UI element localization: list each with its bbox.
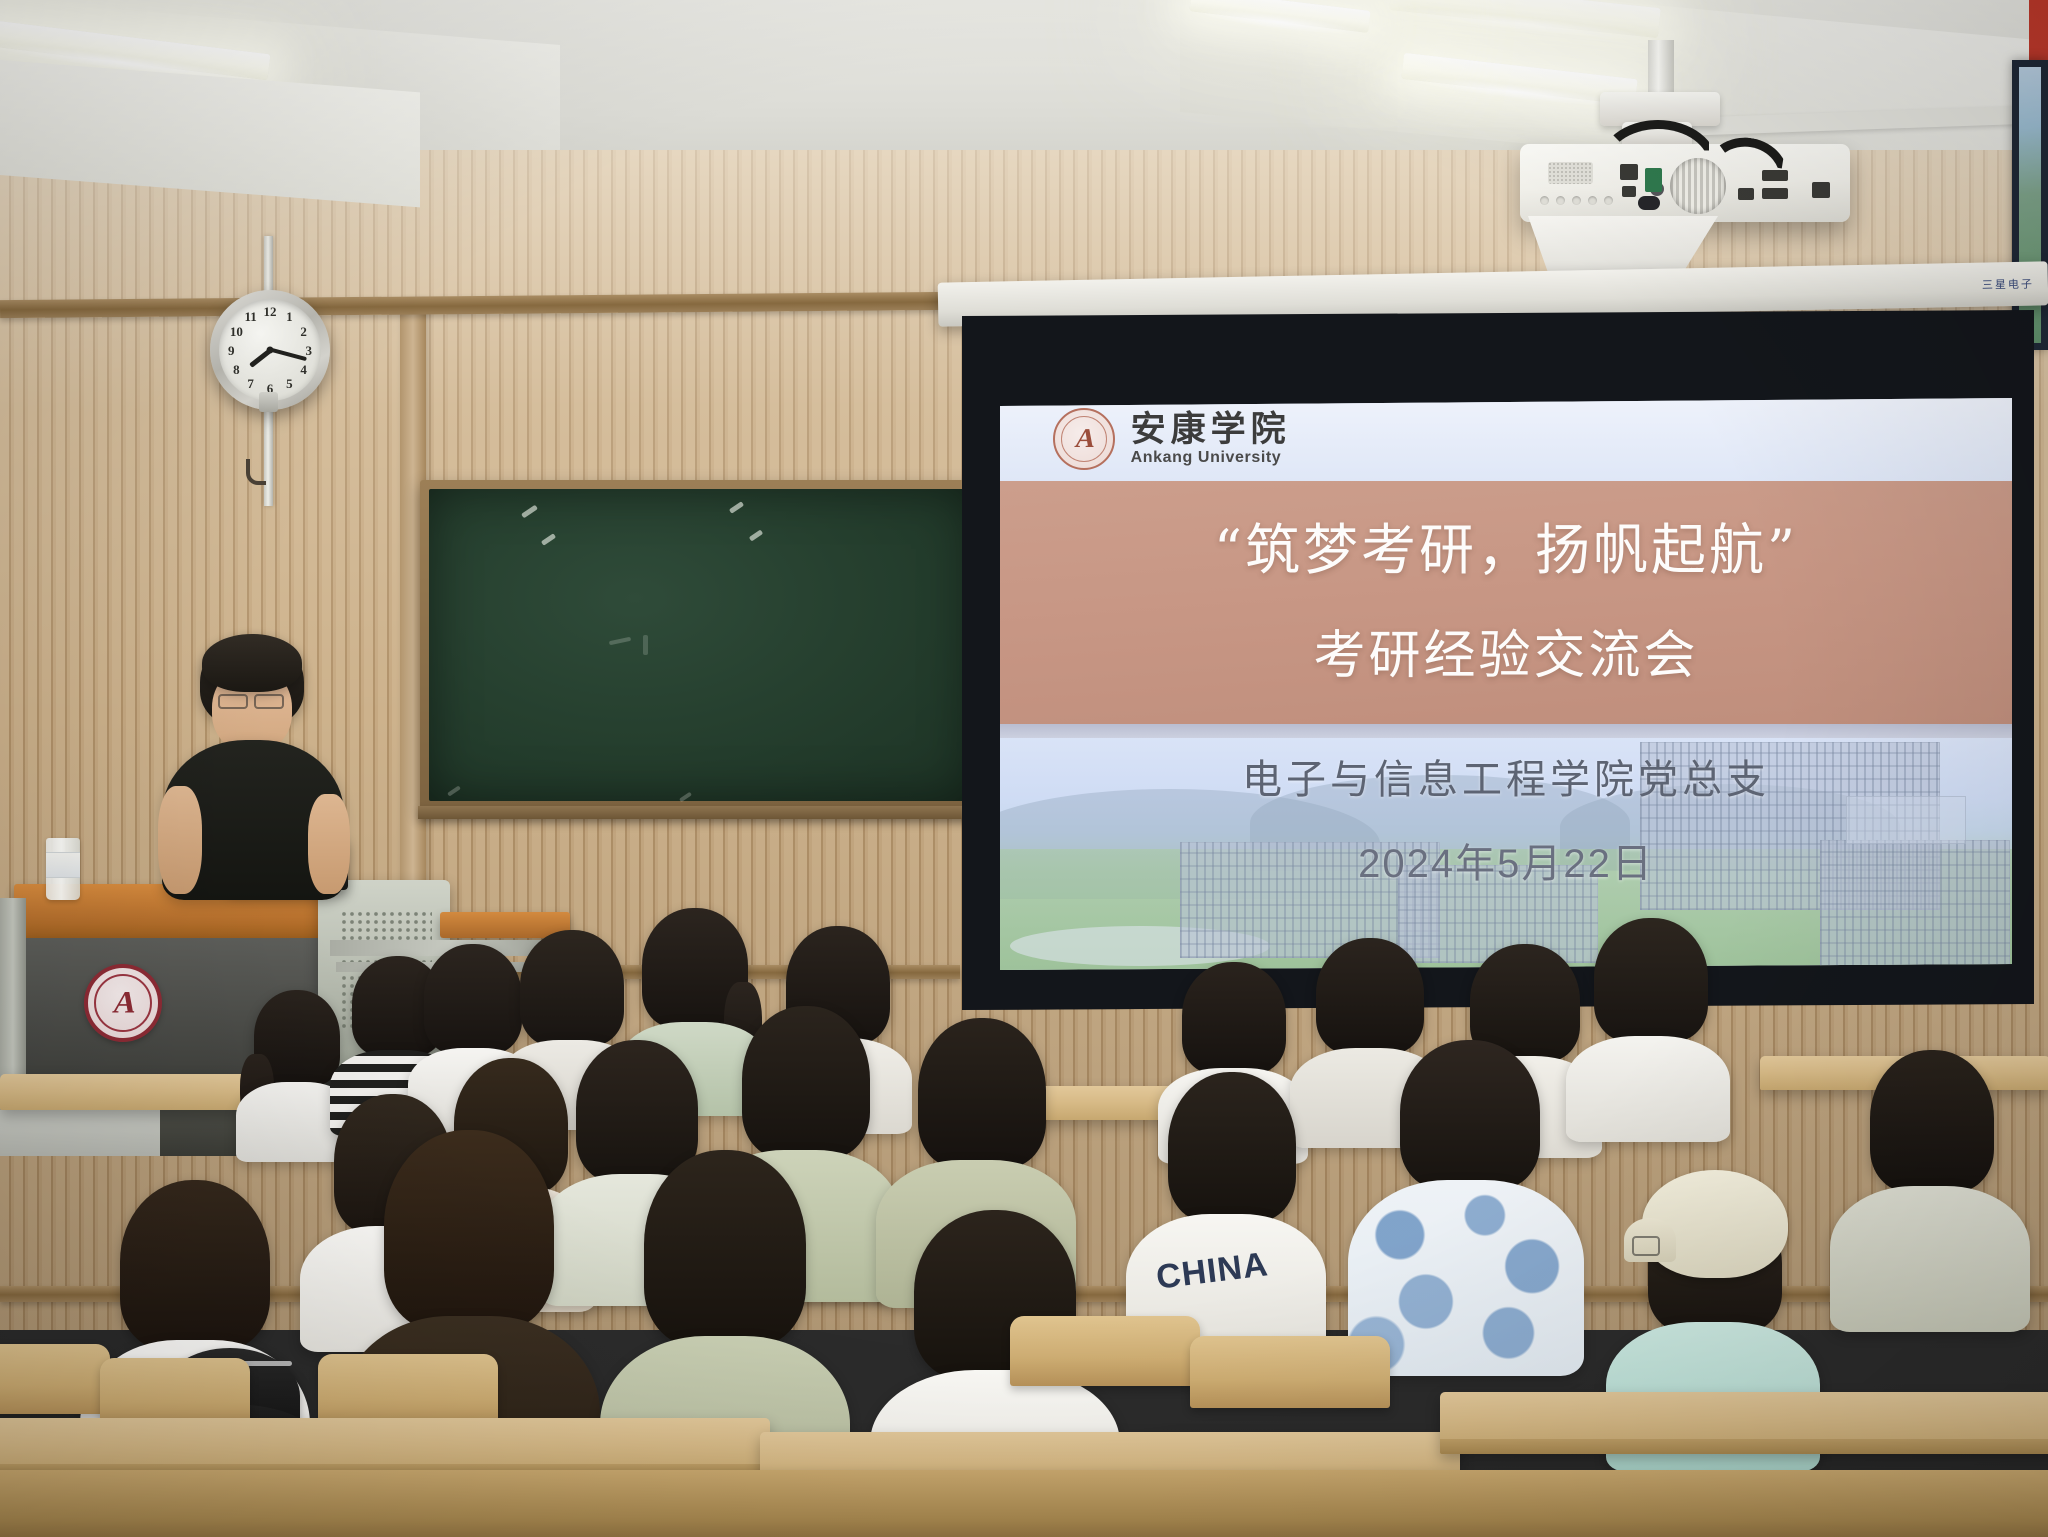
- projector-speaker-grille: [1548, 162, 1593, 184]
- chalk-ledge: [418, 806, 984, 819]
- chalk-mark: [643, 635, 648, 655]
- seat-back: [0, 1344, 110, 1414]
- projected-slide: A 安康学院 Ankang University “筑梦考研，扬帆起航” 考研经…: [1000, 398, 2012, 970]
- clock-numeral: 4: [300, 362, 307, 378]
- clock-face: 12 1 2 3 4 5 6 7 8 9 10 11: [219, 299, 321, 401]
- water-bottle: [46, 838, 80, 900]
- clock-numeral: 1: [286, 309, 293, 325]
- slide-divider: [1000, 724, 2012, 738]
- clock-minute-hand: [271, 348, 308, 361]
- audience-hair: [120, 1180, 270, 1350]
- slide-date: 2024年5月22日: [1358, 831, 1654, 889]
- window-red-panel: [2029, 0, 2048, 62]
- audience-hair: [742, 1006, 870, 1158]
- projector-hdmi-port: [1738, 188, 1754, 200]
- institution-name-cn: 安康学院: [1131, 412, 1291, 448]
- chalk-mark: [729, 501, 744, 514]
- clock-numeral: 8: [233, 362, 240, 378]
- clock-numeral: 10: [230, 324, 243, 340]
- clock-hook: [246, 459, 266, 485]
- projector-button[interactable]: [1572, 196, 1581, 205]
- audience-torso: [1830, 1186, 2030, 1332]
- audience-glasses-icon: [1632, 1236, 1660, 1256]
- audience-hair: [520, 930, 624, 1046]
- projector-button[interactable]: [1540, 196, 1549, 205]
- blackboard-surface: [429, 489, 971, 801]
- audience-hair: [1182, 962, 1286, 1074]
- clock-numeral: 5: [286, 376, 293, 392]
- chalk-mark: [541, 533, 556, 546]
- slide-footer-text: 电子与信息工程学院党总支 2024年5月22日: [1000, 747, 2012, 889]
- slide-title-line2: 考研经验交流会: [1313, 613, 1698, 688]
- audience-hair: [1870, 1050, 1994, 1192]
- floor-step: [0, 1110, 160, 1156]
- seat-back: [1190, 1336, 1390, 1408]
- projector-button[interactable]: [1604, 196, 1613, 205]
- projector-vga-port: [1762, 188, 1788, 199]
- window-frame: [2012, 60, 2048, 350]
- university-seal-icon: A: [1053, 408, 1115, 470]
- desk-front-panel: [0, 1470, 2048, 1537]
- projector-usb-port: [1622, 186, 1636, 197]
- clock-numeral: 12: [264, 304, 277, 320]
- audience-member: [1566, 918, 1730, 1142]
- audience-hair: [384, 1130, 554, 1330]
- podium-university-seal-icon: A: [84, 964, 162, 1042]
- projector-power-socket: [1812, 182, 1830, 198]
- screen-brand-label: 三星电子: [1982, 276, 2034, 293]
- presenter-arm-left: [158, 786, 202, 894]
- desk-front-row: [0, 1418, 770, 1478]
- clock-center-pin: [267, 347, 274, 354]
- seat-back: [1010, 1316, 1200, 1386]
- clock-numeral: 3: [306, 343, 313, 359]
- audience-member: [1830, 1050, 2030, 1330]
- audience-hair: [1400, 1040, 1540, 1190]
- presenter-hair-top: [202, 634, 302, 692]
- chalk-mark: [521, 505, 538, 519]
- chalk-mark: [609, 637, 631, 645]
- clock-numeral: 9: [228, 343, 235, 359]
- projector-green-terminal: [1645, 168, 1662, 192]
- seal-monogram: A: [1072, 423, 1095, 454]
- slide-organizer: 电子与信息工程学院党总支: [1242, 747, 1770, 805]
- clock-pole-clamp: [259, 392, 278, 412]
- audience-hair: [1594, 918, 1708, 1042]
- presenter-glasses-icon: [218, 694, 248, 709]
- slide-campus-photo: 电子与信息工程学院党总支 2024年5月22日: [1000, 738, 2012, 970]
- clock-numeral: 2: [300, 324, 307, 340]
- bottle-label: [46, 852, 80, 878]
- clock-numeral: 7: [247, 376, 254, 392]
- audience-torso: [1566, 1036, 1730, 1142]
- desk-row: [0, 1074, 250, 1110]
- presenter-arm-right: [308, 794, 350, 894]
- desk-edge: [1440, 1439, 2048, 1454]
- audience-hair: [644, 1150, 806, 1346]
- projector-lan-port: [1620, 164, 1638, 180]
- audience-hair: [918, 1018, 1046, 1168]
- podium-seal-monogram: A: [110, 984, 135, 1020]
- presenter-glasses-icon: [254, 694, 284, 709]
- slide-title-band: “筑梦考研，扬帆起航” 考研经验交流会: [1000, 481, 2012, 724]
- chalk-mark: [679, 792, 692, 803]
- projector-button[interactable]: [1588, 196, 1597, 205]
- chalk-mark: [447, 785, 461, 796]
- projector-dial[interactable]: [1638, 196, 1660, 210]
- institution-name-en: Ankang University: [1131, 449, 1291, 467]
- slide-title-line1: “筑梦考研，扬帆起航”: [1214, 517, 1798, 583]
- clock-numeral: 11: [244, 309, 256, 325]
- blackboard: [420, 480, 980, 810]
- projector-button[interactable]: [1556, 196, 1565, 205]
- audience-hair: [1316, 938, 1424, 1054]
- presenter: [150, 636, 350, 926]
- desk-front-row: [1440, 1392, 2048, 1454]
- chalk-mark: [749, 530, 763, 542]
- audience-hair: [1168, 1072, 1296, 1222]
- audience-member: [1348, 1040, 1584, 1370]
- slide-header: A 安康学院 Ankang University: [1000, 398, 2012, 481]
- lecture-hall-photo: 12 1 2 3 4 5 6 7 8 9 10 11: [0, 0, 2048, 1537]
